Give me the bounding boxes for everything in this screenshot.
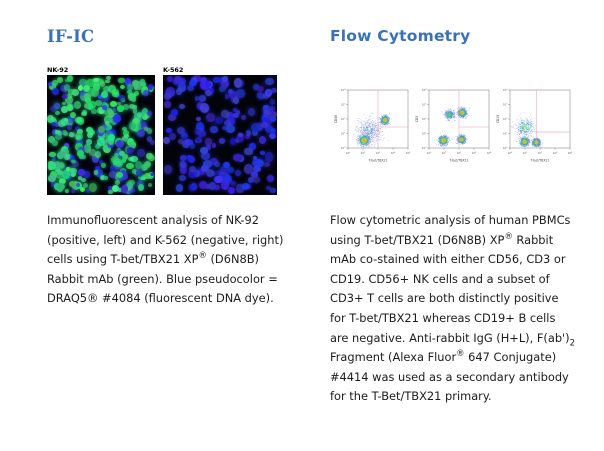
flow-plot-cd3: 100100101101102102103103104104T-bet/TBX2… — [413, 84, 493, 170]
svg-text:100: 100 — [341, 146, 346, 150]
flow-heading: Flow Cytometry — [330, 27, 470, 45]
flow-caption: Flow cytometric analysis of human PBMCs … — [330, 211, 576, 407]
svg-text:101: 101 — [361, 151, 366, 155]
micrograph-label-nk92: NK-92 — [47, 66, 155, 75]
micrograph-panel-k562: K-562 — [163, 66, 277, 195]
flow-caption-registered-mark-2: ® — [456, 348, 464, 358]
svg-text:102: 102 — [422, 117, 427, 121]
flow-plot-cd19: 100100101101102102103103104104T-bet/TBX2… — [494, 84, 574, 170]
svg-text:101: 101 — [422, 132, 427, 136]
svg-text:104: 104 — [406, 151, 411, 155]
svg-text:103: 103 — [391, 151, 396, 155]
svg-text:101: 101 — [442, 151, 447, 155]
svg-text:103: 103 — [341, 103, 346, 107]
svg-text:101: 101 — [341, 132, 346, 136]
micrograph-panel-nk92: NK-92 — [47, 66, 155, 195]
svg-text:102: 102 — [341, 117, 346, 121]
flow-caption-part2: Rabbit mAb co-stained with either CD56, … — [330, 233, 570, 345]
flow-caption-registered-mark-1: ® — [504, 231, 512, 241]
flow-caption-fab2-subscript: 2 — [570, 337, 575, 347]
flow-plot-strip: 100100101101102102103103104104T-bet/TBX2… — [330, 84, 580, 170]
svg-text:104: 104 — [422, 88, 427, 92]
svg-text:T-bet/TBX21: T-bet/TBX21 — [368, 159, 388, 163]
svg-text:100: 100 — [346, 151, 351, 155]
svg-text:104: 104 — [341, 88, 346, 92]
micrograph-label-k562: K-562 — [163, 66, 277, 75]
svg-text:103: 103 — [422, 103, 427, 107]
micrograph-image-k562 — [163, 75, 277, 195]
flow-caption-part3: Fragment (Alexa Fluor — [330, 350, 456, 364]
micrograph-image-nk92 — [47, 75, 155, 195]
svg-text:100: 100 — [427, 151, 432, 155]
svg-text:102: 102 — [457, 151, 462, 155]
svg-text:103: 103 — [472, 151, 477, 155]
ific-image-strip: NK-92 K-562 — [47, 66, 299, 198]
ific-caption: Immunofluorescent analysis of NK-92 (pos… — [47, 211, 295, 309]
figure-page: IF-IC NK-92 K-562 Immunofluorescent anal… — [0, 0, 604, 451]
svg-text:102: 102 — [376, 151, 381, 155]
svg-text:CD56: CD56 — [334, 115, 338, 124]
ific-heading: IF-IC — [47, 27, 94, 46]
svg-text:100: 100 — [422, 146, 427, 150]
ific-caption-registered-mark: ® — [198, 250, 206, 260]
flow-plot-cd56: 100100101101102102103103104104T-bet/TBX2… — [332, 84, 412, 170]
svg-text:104: 104 — [487, 151, 492, 155]
